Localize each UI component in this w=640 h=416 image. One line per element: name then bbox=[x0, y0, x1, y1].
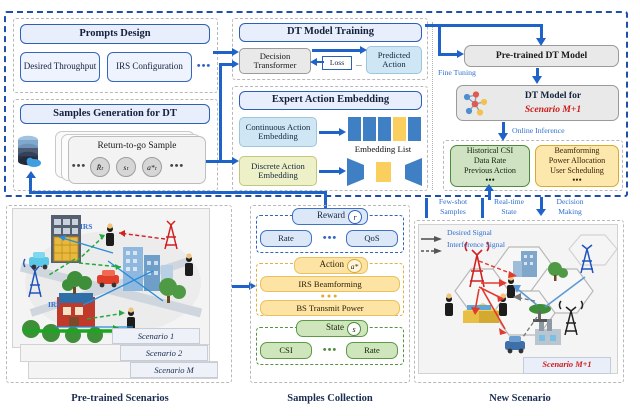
pre-trained-dt-model-box[interactable]: Pre-trained DT Model bbox=[464, 45, 619, 67]
sample-token-return: R̂ₜ bbox=[90, 157, 110, 177]
legend-interference-signal-label: Interference Signal bbox=[447, 240, 547, 251]
flow-label-decision-l1: Decision bbox=[544, 197, 596, 207]
irs-label-1: IRS bbox=[80, 222, 102, 233]
arrow-prompts-to-training bbox=[213, 51, 233, 54]
arrow-sample-to-embedding bbox=[206, 160, 232, 163]
arrow-loss-to-dt bbox=[316, 61, 324, 63]
reward-item-rate[interactable]: Rate bbox=[260, 230, 312, 247]
pretrained-scenarios-caption: Pre-trained Scenarios bbox=[20, 391, 220, 407]
dt-model-for-label: DT Model for bbox=[492, 88, 614, 103]
irs-label-2: IRS bbox=[48, 300, 70, 311]
action-item-irs-beamforming[interactable]: IRS Beamforming bbox=[260, 276, 400, 292]
feedback-bus-vertical-left bbox=[29, 177, 32, 192]
action-title-label: Action bbox=[298, 259, 344, 272]
embedding-bar-4-highlight bbox=[393, 117, 406, 141]
fine-tuning-label: Fine Tuning bbox=[438, 68, 498, 79]
samples-collection-caption: Samples Collection bbox=[250, 391, 410, 407]
new-scenario-tag: Scenario M+1 bbox=[523, 357, 611, 374]
sample-token-state: sₜ bbox=[116, 157, 136, 177]
state-item-rate[interactable]: Rate bbox=[346, 342, 398, 359]
scenario-m-tag: Scenario M bbox=[130, 362, 218, 378]
arrow-samples-bus-top-head bbox=[232, 60, 239, 68]
predicted-action-box[interactable]: Predicted Action bbox=[366, 46, 422, 74]
arrow-training-bus-head bbox=[536, 38, 546, 46]
arrow-discrete-to-list-head bbox=[339, 167, 346, 175]
offline-online-separator bbox=[432, 22, 433, 190]
neural-network-icon bbox=[460, 88, 490, 118]
arrow-dtmodel-to-inference-head bbox=[498, 133, 508, 141]
arrow-loss-to-dt-head bbox=[310, 58, 317, 66]
prompt-irs-configuration[interactable]: IRS Configuration bbox=[107, 52, 192, 82]
continuous-action-embedding-box[interactable]: Continuous Action Embedding bbox=[239, 117, 317, 147]
scenario-2-tag: Scenario 2 bbox=[120, 345, 208, 361]
embedding-bar-3 bbox=[378, 117, 391, 141]
arrow-continuous-to-list bbox=[319, 131, 340, 134]
prompt-desired-throughput[interactable]: Desired Throughput bbox=[20, 52, 100, 82]
flow-label-decision-l2: Making bbox=[544, 207, 596, 217]
state-title-label: State bbox=[300, 322, 344, 335]
reward-item-qos[interactable]: QoS bbox=[346, 230, 398, 247]
arrow-up-into-inputs bbox=[488, 190, 491, 200]
discrete-embedding-shapes bbox=[346, 157, 424, 187]
arrow-discrete-to-list bbox=[319, 170, 340, 173]
expert-action-embedding-header: Expert Action Embedding bbox=[239, 91, 422, 110]
state-ellipsis: ••• bbox=[314, 343, 346, 358]
legend-desired-signal-label: Desired Signal bbox=[447, 228, 537, 239]
legend-interference-signal-icon bbox=[421, 242, 443, 250]
arrow-training-bus-horizontal bbox=[425, 24, 543, 27]
sample-left-ellipsis: ••• bbox=[71, 158, 87, 176]
arrow-embedding-bus-vertical bbox=[438, 27, 441, 55]
loss-box: Loss bbox=[322, 56, 352, 70]
samples-generation-header: Samples Generation for DT bbox=[20, 104, 210, 124]
flow-label-real-time-l1: Real-time bbox=[484, 197, 534, 207]
action-symbol: a* bbox=[347, 259, 362, 273]
embedding-list-label: Embedding List bbox=[340, 143, 426, 156]
arrow-embedding-bus-horizontal bbox=[438, 53, 458, 56]
feedback-bus-horizontal bbox=[29, 191, 327, 194]
discrete-action-embedding-box[interactable]: Discrete Action Embedding bbox=[239, 156, 317, 186]
decision-transformer-box[interactable]: Decision Transformer bbox=[239, 48, 311, 74]
state-item-csi[interactable]: CSI bbox=[260, 342, 312, 359]
flow-label-few-shot-l1: Few-shot bbox=[428, 197, 478, 207]
sample-token-action: a*ₜ bbox=[142, 157, 162, 177]
arrow-embedding-bus-head bbox=[457, 50, 464, 58]
dt-model-scenario-label: Scenario M+1 bbox=[492, 102, 614, 117]
online-inference-label: Online Inference bbox=[512, 126, 592, 137]
arrow-scenarios-to-samples bbox=[232, 285, 250, 288]
prompts-design-header: Prompts Design bbox=[20, 24, 210, 44]
reward-symbol: r bbox=[348, 210, 362, 224]
arrow-sample-to-embedding-head bbox=[232, 157, 239, 165]
arrow-prompts-to-training-head bbox=[232, 48, 239, 56]
reward-ellipsis: ••• bbox=[314, 231, 346, 246]
scenario-1-illustration[interactable] bbox=[12, 208, 210, 348]
arrow-up-into-inputs-head bbox=[484, 184, 494, 191]
arrow-samples-up-bus bbox=[219, 63, 222, 163]
legend-desired-signal-icon bbox=[421, 230, 443, 238]
loss-ellipsis: ... bbox=[353, 57, 365, 71]
scenario-1-tag: Scenario 1 bbox=[112, 328, 200, 344]
arrow-continuous-to-list-head bbox=[339, 128, 346, 136]
database-icon bbox=[16, 134, 42, 168]
arrow-dt-to-predicted bbox=[312, 49, 360, 52]
sample-right-ellipsis: ••• bbox=[168, 158, 186, 176]
prompts-ellipsis: ••• bbox=[193, 58, 215, 76]
return-to-go-sample-title: Return-to-go Sample bbox=[68, 139, 206, 155]
online-output-ellipsis: ••• bbox=[535, 175, 619, 186]
feedback-bus-head bbox=[26, 171, 36, 178]
arrow-dt-to-predicted-head bbox=[360, 46, 367, 54]
embedding-bar-5 bbox=[408, 117, 421, 141]
arrow-pretrained-to-dtmodel-head bbox=[532, 76, 542, 84]
embedding-bar-1 bbox=[348, 117, 361, 141]
state-symbol: s bbox=[347, 322, 361, 336]
new-scenario-caption: New Scenario bbox=[440, 391, 600, 407]
flow-label-real-time-l2: State bbox=[484, 207, 534, 217]
flow-label-few-shot-l2: Samples bbox=[428, 207, 478, 217]
embedding-bar-2 bbox=[363, 117, 376, 141]
dt-model-training-header: DT Model Training bbox=[239, 23, 422, 42]
action-item-bs-transmit-power[interactable]: BS Transmit Power bbox=[260, 300, 400, 316]
reward-title-label: Reward bbox=[297, 210, 345, 223]
